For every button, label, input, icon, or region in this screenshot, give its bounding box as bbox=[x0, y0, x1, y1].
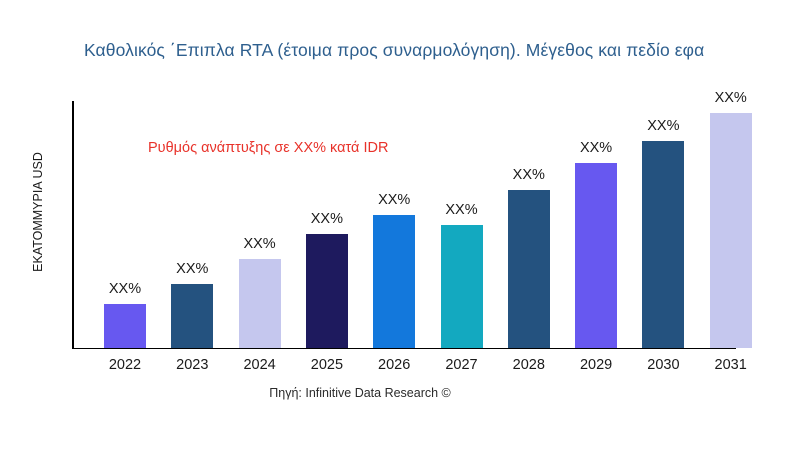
bar-2025 bbox=[306, 234, 348, 348]
x-tick-2031: 2031 bbox=[691, 357, 771, 373]
bar-2029 bbox=[575, 163, 617, 348]
bar-value-label-2022: XX% bbox=[90, 281, 160, 297]
bar-value-label-2024: XX% bbox=[225, 236, 295, 252]
y-axis-line bbox=[72, 101, 74, 349]
bar-2024 bbox=[239, 259, 281, 348]
bar-chart: Καθολικός ΄Επιπλα RTA (έτοιμα προς συναρ… bbox=[0, 0, 800, 450]
bar-value-label-2031: XX% bbox=[696, 90, 766, 106]
bar-value-label-2023: XX% bbox=[157, 261, 227, 277]
bar-2028 bbox=[508, 190, 550, 348]
bar-value-label-2027: XX% bbox=[427, 202, 497, 218]
bar-value-label-2026: XX% bbox=[359, 192, 429, 208]
bar-value-label-2028: XX% bbox=[494, 167, 564, 183]
bar-value-label-2025: XX% bbox=[292, 211, 362, 227]
bar-2031 bbox=[710, 113, 752, 348]
bar-2027 bbox=[441, 225, 483, 349]
growth-rate-annotation: Ρυθμός ανάπτυξης σε XX% κατά IDR bbox=[148, 140, 388, 156]
bar-2023 bbox=[171, 284, 213, 348]
bar-2026 bbox=[373, 215, 415, 348]
bar-2030 bbox=[642, 141, 684, 348]
bar-value-label-2030: XX% bbox=[628, 118, 698, 134]
source-note: Πηγή: Infinitive Data Research © bbox=[0, 386, 720, 400]
bar-2022 bbox=[104, 304, 146, 348]
chart-title: Καθολικός ΄Επιπλα RTA (έτοιμα προς συναρ… bbox=[84, 36, 800, 64]
bar-value-label-2029: XX% bbox=[561, 140, 631, 156]
y-axis-label: ΕΚΑΤΟΜΜΥΡΙΑ USD bbox=[31, 112, 45, 312]
